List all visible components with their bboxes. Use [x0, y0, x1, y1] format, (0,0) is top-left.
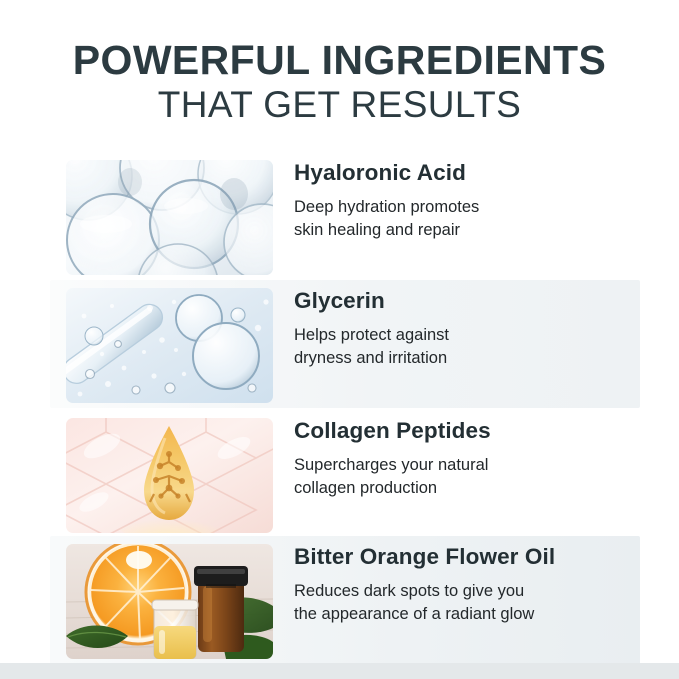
ingredient-copy: Hyaloronic Acid Deep hydration promotes … — [294, 160, 654, 242]
ingredient-description: Supercharges your natural collagen produ… — [294, 454, 644, 501]
ingredient-copy: Collagen Peptides Supercharges your natu… — [294, 418, 654, 500]
ingredient-description: Helps protect against dryness and irrita… — [294, 324, 644, 371]
bottom-divider-band — [0, 663, 679, 679]
list-item: Hyaloronic Acid Deep hydration promotes … — [0, 152, 679, 282]
ingredient-description: Deep hydration promotes skin healing and… — [294, 196, 644, 243]
hyaluronic-acid-bubbles-photo — [66, 160, 273, 275]
ingredient-name: Bitter Orange Flower Oil — [294, 544, 654, 571]
title-line-secondary: THAT GET RESULTS — [0, 82, 679, 127]
ingredient-list: Hyaloronic Acid Deep hydration promotes … — [0, 152, 679, 672]
description-line-1: Reduces dark spots to give you — [294, 580, 644, 603]
ingredient-name: Glycerin — [294, 288, 654, 315]
description-line-2: dryness and irritation — [294, 347, 644, 370]
bitter-orange-flower-oil-photo — [66, 544, 273, 659]
list-item: Bitter Orange Flower Oil Reduces dark sp… — [0, 536, 679, 666]
list-item: Glycerin Helps protect against dryness a… — [0, 280, 679, 410]
list-item: Collagen Peptides Supercharges your natu… — [0, 410, 679, 540]
description-line-1: Deep hydration promotes — [294, 196, 644, 219]
ingredient-description: Reduces dark spots to give you the appea… — [294, 580, 644, 627]
collagen-peptides-droplet-photo — [66, 418, 273, 533]
title-line-primary: POWERFUL INGREDIENTS — [0, 38, 679, 82]
description-line-2: skin healing and repair — [294, 219, 644, 242]
description-line-1: Helps protect against — [294, 324, 644, 347]
description-line-1: Supercharges your natural — [294, 454, 644, 477]
page-title: POWERFUL INGREDIENTS THAT GET RESULTS — [0, 38, 679, 127]
ingredient-copy: Glycerin Helps protect against dryness a… — [294, 288, 654, 370]
ingredient-name: Hyaloronic Acid — [294, 160, 654, 187]
description-line-2: collagen production — [294, 477, 644, 500]
description-line-2: the appearance of a radiant glow — [294, 603, 644, 626]
ingredient-copy: Bitter Orange Flower Oil Reduces dark sp… — [294, 544, 654, 626]
ingredient-name: Collagen Peptides — [294, 418, 654, 445]
ingredients-infographic: POWERFUL INGREDIENTS THAT GET RESULTS — [0, 0, 679, 679]
glycerin-dropper-photo — [66, 288, 273, 403]
